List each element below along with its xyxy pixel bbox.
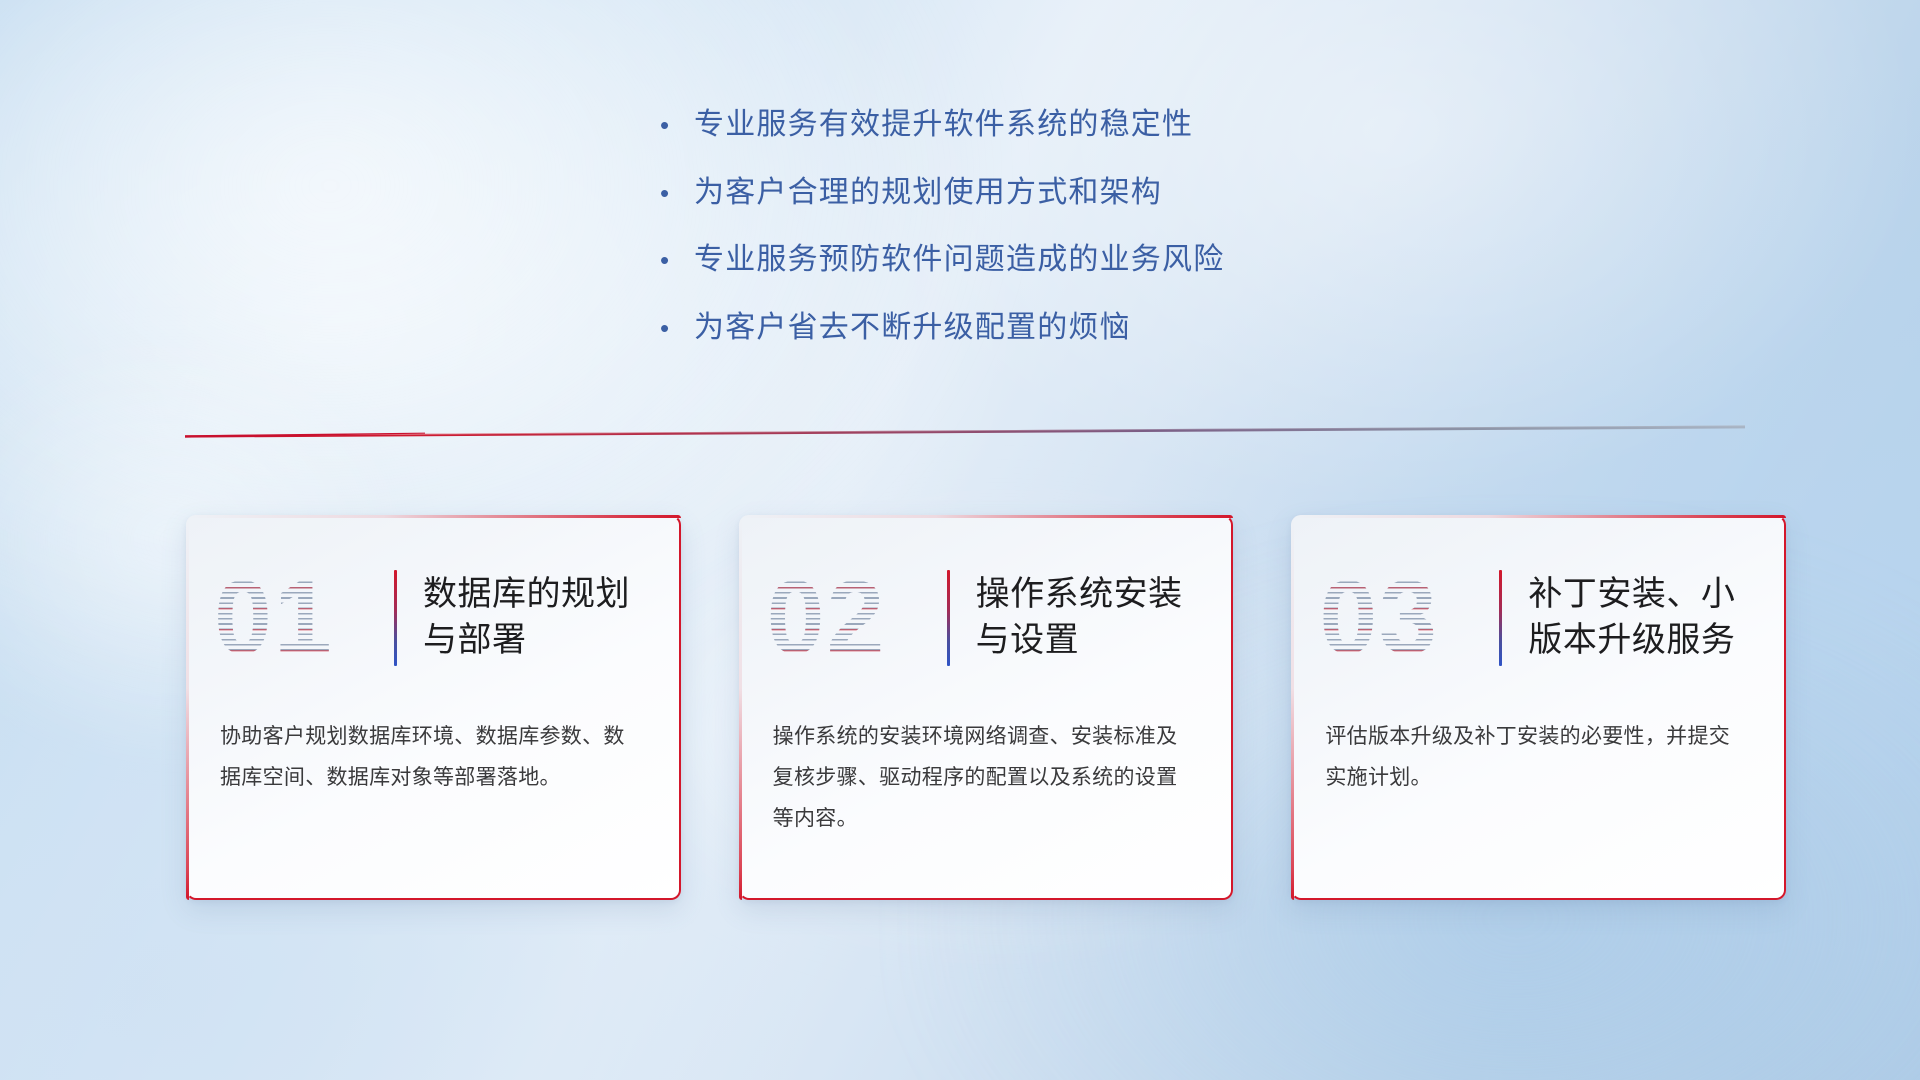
card-description: 操作系统的安装环境网络调查、安装标准及复核步骤、驱动程序的配置以及系统的设置等内… bbox=[739, 683, 1234, 840]
card-number: 0101 bbox=[214, 566, 392, 670]
list-item: • 专业服务有效提升软件系统的稳定性 bbox=[660, 106, 1560, 144]
card-title: 补丁安装、小版本升级服务 bbox=[1528, 572, 1752, 664]
card-header: 0101 数据库的规划与部署 bbox=[186, 515, 681, 683]
section-divider bbox=[185, 424, 1745, 438]
card-number-tint-overlay: 02 bbox=[767, 566, 945, 670]
bullet-dot-icon: • bbox=[660, 112, 694, 138]
card-description: 协助客户规划数据库环境、数据库参数、数据库空间、数据库对象等部署落地。 bbox=[186, 683, 681, 799]
slide-canvas: • 专业服务有效提升软件系统的稳定性 • 为客户合理的规划使用方式和架构 • 专… bbox=[0, 0, 1920, 1080]
card-header: 0303 补丁安装、小版本升级服务 bbox=[1291, 515, 1786, 683]
bullet-dot-icon: • bbox=[660, 315, 694, 341]
list-item: • 专业服务预防软件问题造成的业务风险 bbox=[660, 241, 1560, 279]
bullet-text: 专业服务预防软件问题造成的业务风险 bbox=[694, 241, 1224, 279]
card-number: 0202 bbox=[767, 566, 945, 670]
bullet-text: 为客户合理的规划使用方式和架构 bbox=[694, 174, 1162, 212]
bullet-text: 专业服务有效提升软件系统的稳定性 bbox=[694, 106, 1193, 144]
card-divider-rule bbox=[947, 570, 950, 666]
card-number: 0303 bbox=[1319, 566, 1497, 670]
card-title: 操作系统安装与设置 bbox=[976, 572, 1200, 664]
card-divider-rule bbox=[1499, 570, 1502, 666]
service-card[interactable]: 0101 数据库的规划与部署 协助客户规划数据库环境、数据库参数、数据库空间、数… bbox=[186, 515, 681, 900]
benefits-bullet-list: • 专业服务有效提升软件系统的稳定性 • 为客户合理的规划使用方式和架构 • 专… bbox=[660, 106, 1560, 376]
card-header: 0202 操作系统安装与设置 bbox=[739, 515, 1234, 683]
service-card[interactable]: 0202 操作系统安装与设置 操作系统的安装环境网络调查、安装标准及复核步骤、驱… bbox=[739, 515, 1234, 900]
divider-wedge-icon bbox=[185, 424, 1745, 438]
bullet-dot-icon: • bbox=[660, 247, 694, 273]
card-number-tint-overlay: 03 bbox=[1319, 566, 1497, 670]
card-number-tint-overlay: 01 bbox=[214, 566, 392, 670]
list-item: • 为客户省去不断升级配置的烦恼 bbox=[660, 309, 1560, 347]
card-title: 数据库的规划与部署 bbox=[423, 572, 647, 664]
card-description: 评估版本升级及补丁安装的必要性，并提交实施计划。 bbox=[1291, 683, 1786, 799]
list-item: • 为客户合理的规划使用方式和架构 bbox=[660, 174, 1560, 212]
service-card[interactable]: 0303 补丁安装、小版本升级服务 评估版本升级及补丁安装的必要性，并提交实施计… bbox=[1291, 515, 1786, 900]
bullet-dot-icon: • bbox=[660, 180, 694, 206]
bullet-text: 为客户省去不断升级配置的烦恼 bbox=[694, 309, 1131, 347]
card-divider-rule bbox=[394, 570, 397, 666]
service-card-list: 0101 数据库的规划与部署 协助客户规划数据库环境、数据库参数、数据库空间、数… bbox=[186, 515, 1786, 905]
